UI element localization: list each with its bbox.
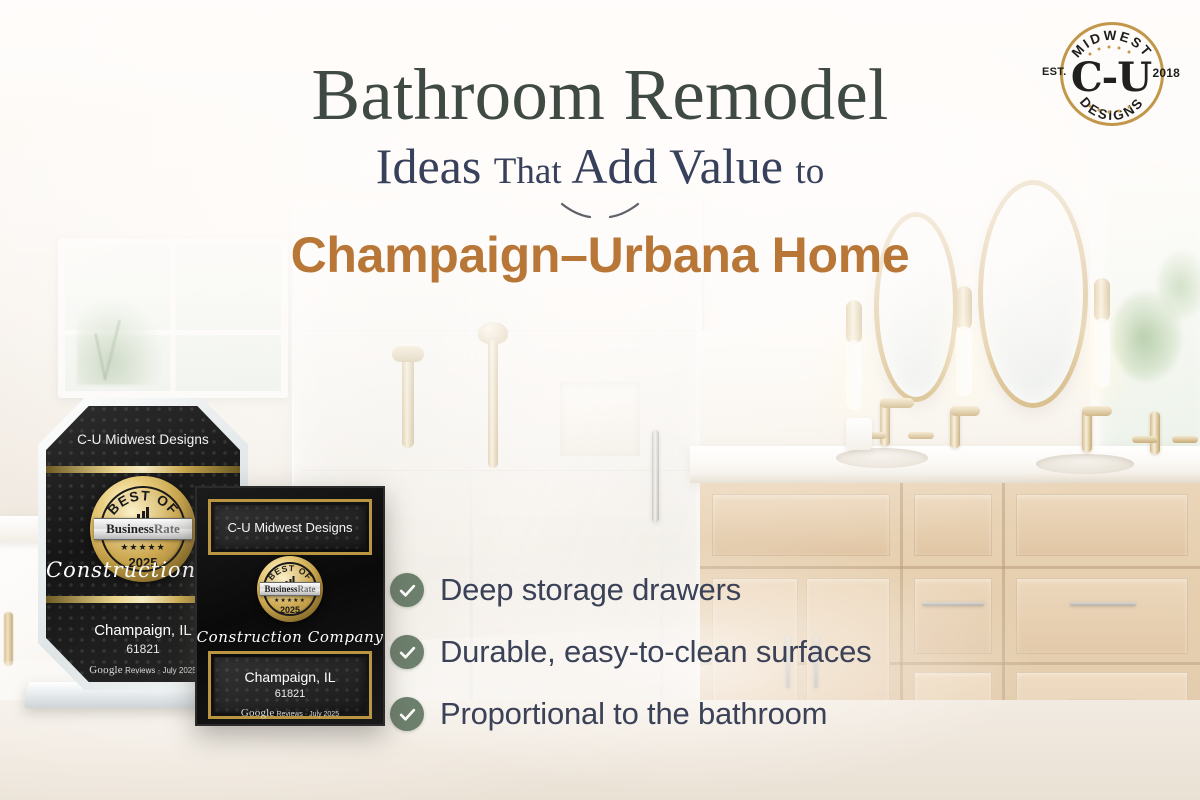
seal-brand-accent: Rate bbox=[154, 521, 180, 537]
seal-brand-main: Business bbox=[106, 521, 154, 537]
decorative-flourish-icon bbox=[0, 196, 1200, 222]
promo-graphic: MIDWEST DESIGNS C-U EST. 2018 Bathroom R… bbox=[0, 0, 1200, 800]
best-of-award-seal: BEST OF BusinessRate ★★★★★ 2025 bbox=[257, 556, 323, 622]
headline-line-1: Bathroom Remodel bbox=[0, 58, 1200, 132]
seal-stars: ★★★★★ bbox=[90, 542, 196, 553]
google-wordmark: Google bbox=[89, 664, 123, 676]
seal-brand-accent: Rate bbox=[298, 584, 316, 594]
rectangular-award-plaque: C-U Midwest Designs BEST OF BusinessRate… bbox=[195, 486, 385, 726]
headline-add-value: Add Value bbox=[571, 138, 783, 194]
plaque-bottom-panel: Champaign, IL 61821 Google Reviews · Jul… bbox=[211, 654, 369, 716]
benefit-label: Durable, easy-to-clean surfaces bbox=[440, 634, 871, 670]
plaque-city: Champaign, IL bbox=[214, 669, 366, 685]
plaque-source-note: Reviews · July 2025 bbox=[125, 666, 197, 675]
plaque-zip: 61821 bbox=[214, 688, 366, 700]
award-plaques: C-U Midwest Designs BEST OF BusinessRate bbox=[28, 398, 398, 738]
plaque-source-note: Reviews · July 2025 bbox=[276, 711, 339, 718]
plaque-category: Construction Company bbox=[195, 628, 385, 646]
seal-brand-band: BusinessRate bbox=[94, 518, 192, 540]
google-wordmark: Google bbox=[241, 707, 275, 719]
seal-year: 2025 bbox=[257, 605, 323, 615]
headline-to: to bbox=[795, 151, 824, 192]
seal-brand-main: Business bbox=[264, 584, 297, 594]
headline-line-3: Champaign–Urbana Home bbox=[0, 228, 1200, 283]
seal-brand-band: BusinessRate bbox=[260, 582, 321, 596]
list-item: Deep storage drawers bbox=[390, 572, 1010, 608]
plaque-gold-bar bbox=[46, 466, 240, 473]
seal-stars: ★★★★★ bbox=[257, 597, 323, 604]
plaque-top-panel: C-U Midwest Designs bbox=[211, 502, 369, 552]
headline-that: That bbox=[494, 151, 562, 192]
headline-block: Bathroom Remodel Ideas That Add Value to… bbox=[0, 58, 1200, 283]
headline-ideas: Ideas bbox=[376, 138, 482, 194]
headline-line-2: Ideas That Add Value to bbox=[0, 138, 1200, 194]
plaque-source: Google Reviews · July 2025 bbox=[214, 707, 366, 719]
plaque-company-name: C-U Midwest Designs bbox=[214, 505, 366, 549]
list-item: Proportional to the bathroom bbox=[390, 696, 1010, 732]
list-item: Durable, easy-to-clean surfaces bbox=[390, 634, 1010, 670]
benefits-list: Deep storage drawers Durable, easy-to-cl… bbox=[390, 572, 1010, 758]
benefit-label: Deep storage drawers bbox=[440, 572, 741, 608]
benefit-label: Proportional to the bathroom bbox=[440, 696, 827, 732]
plaque-company-name: C-U Midwest Designs bbox=[46, 432, 240, 447]
